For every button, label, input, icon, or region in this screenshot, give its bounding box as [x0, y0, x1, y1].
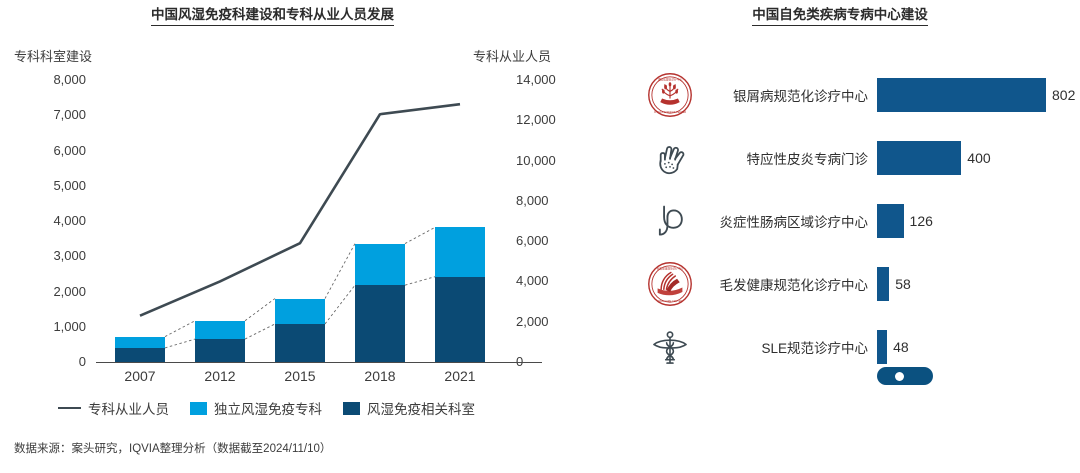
- center-row-bar-wrap: 126: [877, 204, 933, 238]
- x-axis-label: 2007: [105, 368, 175, 384]
- legend-item[interactable]: 专科从业人员: [58, 398, 169, 418]
- center-row-bar-wrap: 802: [877, 78, 1075, 112]
- center-row-label: 炎症性肠病区域诊疗中心: [698, 211, 877, 231]
- connector-line-total: [165, 321, 195, 337]
- y-tick-left: 3,000: [0, 249, 86, 262]
- left-y-axis-caption: 专科科室建设: [14, 46, 92, 65]
- legend-item[interactable]: 独立风湿免疫专科: [190, 398, 322, 418]
- bar-segment-independent-department: [115, 337, 165, 348]
- center-row-label: 特应性皮炎专病门诊: [698, 148, 877, 168]
- y-tick-right: 2,000: [516, 315, 549, 328]
- y-tick-left: 2,000: [0, 285, 86, 298]
- bar-segment-related-department: [115, 348, 165, 362]
- center-row-value: 126: [910, 213, 933, 229]
- pagination-toggle[interactable]: [877, 367, 933, 385]
- center-row[interactable]: 银屑病规范诊疗中心 CHINA PSORIASIS CENTER 银屑病规范化诊…: [600, 63, 1080, 126]
- practitioners-line-series: [140, 104, 460, 316]
- center-row-label: 毛发健康规范化诊疗中心: [698, 274, 877, 294]
- center-row-value: 802: [1052, 87, 1075, 103]
- y-tick-left: 6,000: [0, 144, 86, 157]
- y-tick-right: 10,000: [516, 154, 556, 167]
- center-row-bar: [877, 330, 887, 364]
- plot-area: [100, 80, 500, 362]
- center-row-bar-wrap: 58: [877, 267, 911, 301]
- connector-line-total: [405, 227, 435, 243]
- left-y-axis: 01,0002,0003,0004,0005,0006,0007,0008,00…: [4, 80, 92, 362]
- legend-swatch-marker: [343, 402, 360, 415]
- chart-legend: 专科从业人员独立风湿免疫专科风湿免疫相关科室: [58, 398, 489, 418]
- center-row[interactable]: 特应性皮炎专病门诊400: [600, 126, 1080, 189]
- bar-segment-related-department: [435, 277, 485, 362]
- rheumatology-development-chart-panel: 中国风湿免疫科建设和专科从业人员发展 专科科室建设 专科从业人员 01,0002…: [0, 0, 600, 473]
- x-axis-label: 2012: [185, 368, 255, 384]
- x-axis-labels: 20072012201520182021: [100, 368, 500, 390]
- x-axis-label: 2018: [345, 368, 415, 384]
- center-row-value: 58: [895, 276, 911, 292]
- right-y-axis: 02,0004,0006,0008,00010,00012,00014,000: [512, 80, 582, 362]
- center-row[interactable]: 毛发健康规范诊疗中心 HAIR CARE CENTER 毛发健康规范化诊疗中心5…: [600, 252, 1080, 315]
- center-row[interactable]: 炎症性肠病区域诊疗中心126: [600, 189, 1080, 252]
- source-note: 数据来源：案头研究，IQVIA整理分析（数据截至2024/11/10）: [14, 440, 331, 456]
- pagination-toggle-knob: [895, 372, 904, 381]
- center-row-bar-wrap: 48: [877, 330, 909, 364]
- hand-dermatitis-icon: [642, 132, 698, 184]
- autoimmune-centers-chart-panel: 中国自免类疾病专病中心建设 银屑病规范诊疗中心 CHINA PSORIASIS …: [600, 0, 1080, 473]
- hair-care-seal-icon: 毛发健康规范诊疗中心 HAIR CARE CENTER: [642, 258, 698, 310]
- center-row-label: 银屑病规范化诊疗中心: [698, 85, 877, 105]
- y-tick-right: 4,000: [516, 274, 549, 287]
- center-row-bar: [877, 204, 904, 238]
- right-chart-title-wrap: 中国自免类疾病专病中心建设: [600, 6, 1080, 26]
- x-axis-label: 2021: [425, 368, 495, 384]
- y-tick-left: 7,000: [0, 108, 86, 121]
- bar-segment-related-department: [355, 285, 405, 362]
- y-tick-left: 0: [0, 355, 86, 368]
- svg-text:银屑病规范诊疗中心: 银屑病规范诊疗中心: [658, 77, 683, 81]
- y-tick-left: 1,000: [0, 320, 86, 333]
- legend-item[interactable]: 风湿免疫相关科室: [343, 398, 475, 418]
- right-y-axis-caption: 专科从业人员: [473, 46, 551, 65]
- psoriasis-seal-icon: 银屑病规范诊疗中心 CHINA PSORIASIS CENTER: [642, 69, 698, 121]
- connector-line-dark: [405, 277, 435, 285]
- center-row-value: 48: [893, 339, 909, 355]
- center-row-bar: [877, 267, 889, 301]
- x-axis-line: [96, 362, 542, 363]
- bar-segment-independent-department: [355, 244, 405, 286]
- legend-label: 独立风湿免疫专科: [214, 398, 322, 418]
- center-row-label: SLE规范诊疗中心: [698, 337, 877, 357]
- center-row-bar: [877, 78, 1046, 112]
- x-axis-label: 2015: [265, 368, 335, 384]
- connector-line-dark: [165, 339, 195, 348]
- svg-text:HAIR CARE CENTER: HAIR CARE CENTER: [658, 300, 682, 303]
- center-rows-list: 银屑病规范诊疗中心 CHINA PSORIASIS CENTER 银屑病规范化诊…: [600, 63, 1080, 378]
- bar-segment-related-department: [275, 324, 325, 362]
- legend-line-marker: [58, 407, 81, 409]
- connector-line-dark: [245, 324, 275, 339]
- svg-text:CHINA PSORIASIS CENTER: CHINA PSORIASIS CENTER: [654, 111, 687, 114]
- center-row-bar-wrap: 400: [877, 141, 991, 175]
- svg-text:毛发健康规范诊疗中心: 毛发健康规范诊疗中心: [657, 266, 684, 270]
- legend-swatch-marker: [190, 402, 207, 415]
- bar-segment-independent-department: [275, 299, 325, 324]
- y-tick-right: 12,000: [516, 113, 556, 126]
- center-row-value: 400: [967, 150, 990, 166]
- y-tick-left: 4,000: [0, 214, 86, 227]
- right-chart-title: 中国自免类疾病专病中心建设: [752, 6, 928, 26]
- legend-label: 风湿免疫相关科室: [367, 398, 475, 418]
- caduceus-icon: [642, 321, 698, 373]
- bar-segment-related-department: [195, 339, 245, 362]
- center-row[interactable]: SLE规范诊疗中心48: [600, 315, 1080, 378]
- y-tick-left: 5,000: [0, 179, 86, 192]
- stomach-icon: [642, 195, 698, 247]
- bar-segment-independent-department: [435, 227, 485, 276]
- y-tick-left: 8,000: [0, 73, 86, 86]
- y-tick-right: 6,000: [516, 234, 549, 247]
- center-row-bar: [877, 141, 961, 175]
- bar-segment-independent-department: [195, 321, 245, 339]
- y-tick-right: 14,000: [516, 73, 556, 86]
- legend-label: 专科从业人员: [88, 398, 169, 418]
- y-tick-right: 8,000: [516, 194, 549, 207]
- left-chart-title-wrap: 中国风湿免疫科建设和专科从业人员发展: [0, 6, 545, 26]
- connector-line-total: [245, 299, 275, 321]
- connector-line-dark: [325, 285, 355, 324]
- left-chart-title: 中国风湿免疫科建设和专科从业人员发展: [151, 6, 394, 26]
